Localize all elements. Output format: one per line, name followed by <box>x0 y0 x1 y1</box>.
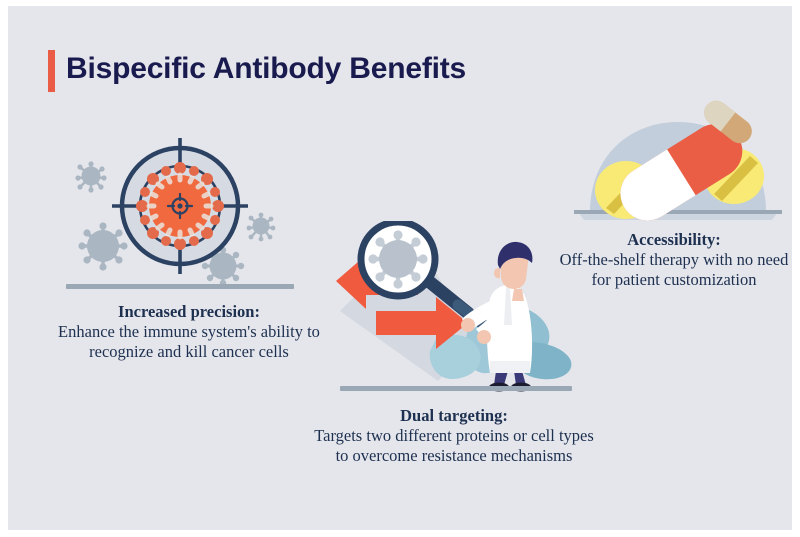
caption-dual-targeting: Dual targeting: Targets two different pr… <box>308 406 600 466</box>
title-accent-bar <box>48 50 55 92</box>
caption-lead: Increased precision: <box>58 302 320 322</box>
virus-particle-small-left <box>75 161 106 192</box>
accessibility-illustration <box>568 94 800 226</box>
virus-particle-large-left <box>78 222 127 270</box>
ground-line-precision <box>66 284 294 289</box>
virus-particle-small-right <box>247 213 276 242</box>
caption-accessibility: Accessibility: Off-the-shelf therapy wit… <box>551 230 797 290</box>
ground-line-dual <box>340 386 572 391</box>
target-cell <box>136 162 224 250</box>
caption-body: Targets two different proteins or cell t… <box>308 426 600 466</box>
infographic-canvas: Bispecific Antibody Benefits <box>8 6 792 530</box>
caption-increased-precision: Increased precision: Enhance the immune … <box>58 302 320 362</box>
dual-targeting-illustration <box>318 221 588 393</box>
infographic-root: Bispecific Antibody Benefits <box>0 0 800 537</box>
page-title: Bispecific Antibody Benefits <box>66 52 466 86</box>
increased-precision-illustration <box>63 134 313 289</box>
caption-body: Off-the-shelf therapy with no need for p… <box>551 250 797 290</box>
virus-in-lens <box>368 230 427 288</box>
caption-lead: Accessibility: <box>551 230 797 250</box>
caption-lead: Dual targeting: <box>308 406 600 426</box>
caption-body: Enhance the immune system's ability to r… <box>58 322 320 362</box>
